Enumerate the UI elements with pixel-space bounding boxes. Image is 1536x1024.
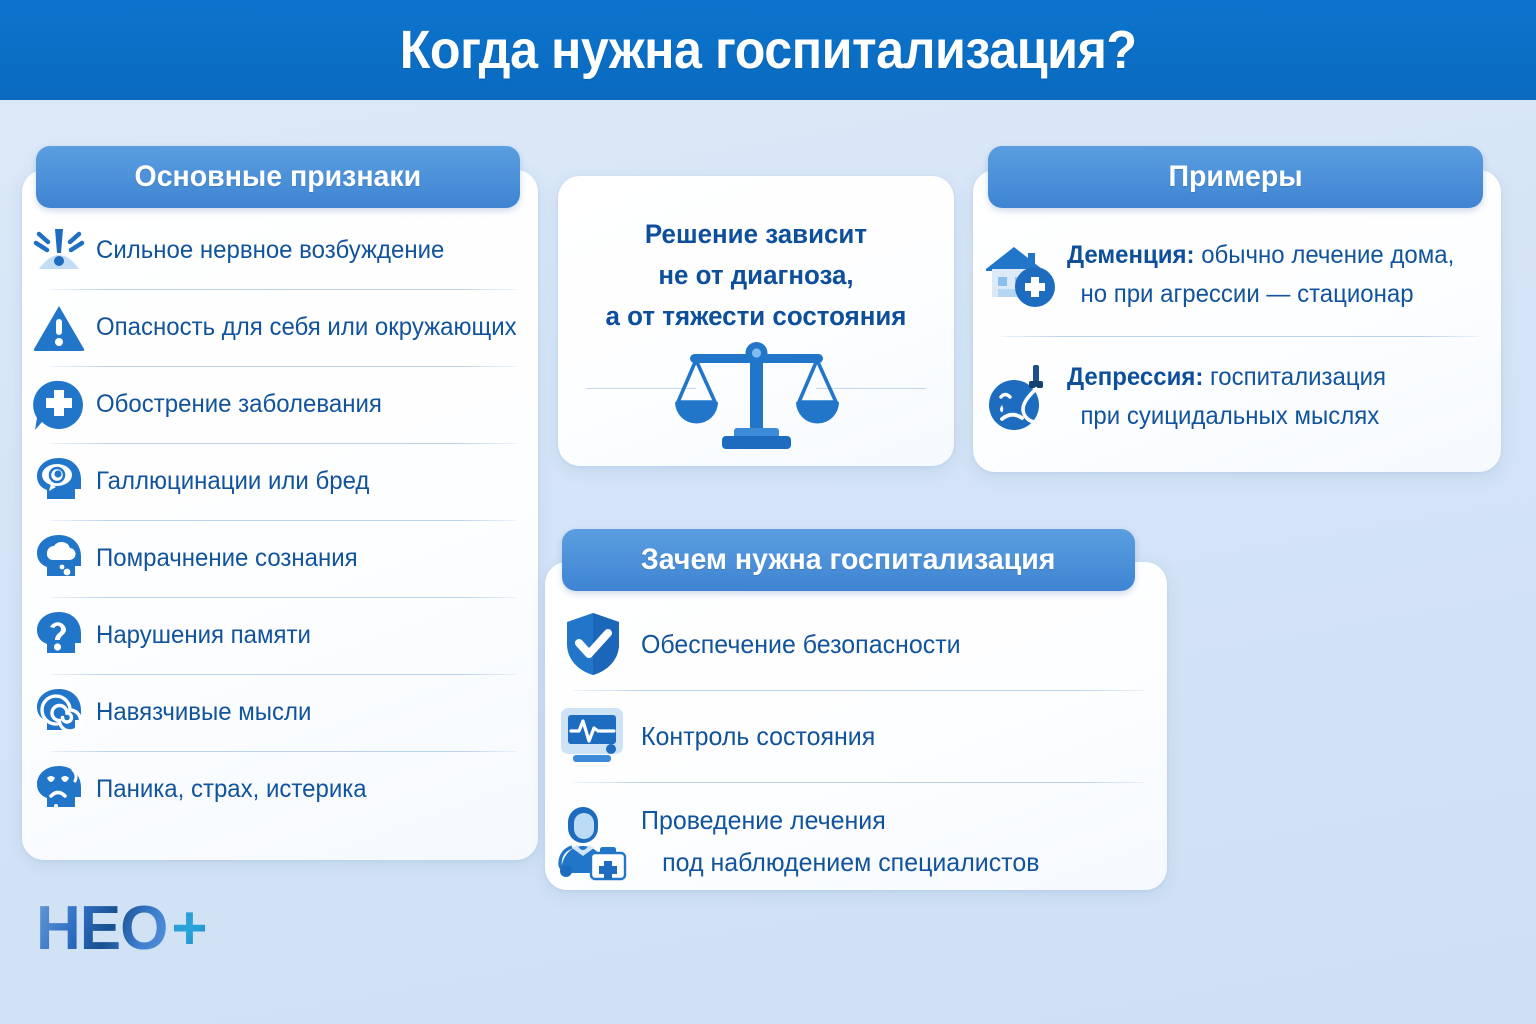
panel-decision-quote: Решение зависит не от диагноза, а от тяж… [558, 176, 954, 466]
list-item[interactable]: Обострение заболевания [22, 366, 538, 443]
logo-wordmark: НЕО [36, 893, 167, 964]
page-header-banner: Когда нужна госпитализация? [0, 0, 1536, 100]
example-line-1: госпитализация [1203, 363, 1386, 391]
list-item-label: Обострение заболевания [96, 389, 382, 420]
list-main-signs: Сильное нервное возбуждение Опасность дл… [22, 212, 538, 828]
list-item[interactable]: Опасность для себя или окружающих [22, 289, 538, 366]
panel-header-main-signs: Основные признаки [36, 146, 520, 208]
head-sad-face-icon [22, 762, 96, 818]
panel-header-examples: Примеры [988, 146, 1483, 208]
example-term: Деменция: [1067, 241, 1195, 269]
why-line-2: под наблюдением специалистов [641, 841, 1039, 883]
example-line-1: обычно лечение дома, [1195, 241, 1455, 269]
heart-monitor-icon [545, 704, 641, 768]
panel-title-main-signs: Основные признаки [135, 160, 422, 194]
list-item-label: Проведение лечения под наблюдением специ… [641, 799, 1039, 883]
quote-line-1: Решение зависит [566, 214, 946, 255]
example-term: Депрессия: [1067, 363, 1203, 391]
list-item-label: Депрессия: госпитализация при суицидальн… [1067, 358, 1386, 437]
sad-face-drop-icon [973, 361, 1067, 433]
example-line-2: но при агрессии — стационар [1067, 275, 1454, 315]
warning-triangle-icon [22, 303, 96, 353]
list-item[interactable]: Обеспечение безопасности [545, 598, 1167, 690]
why-line-1: Проведение лечения [641, 805, 886, 835]
page-title: Когда нужна госпитализация? [400, 19, 1137, 81]
head-question-icon [22, 608, 96, 664]
list-item-label: Сильное нервное возбуждение [96, 235, 444, 266]
example-line-2: при суицидальных мыслях [1067, 397, 1386, 437]
panel-title-examples: Примеры [1168, 160, 1302, 194]
list-item-label: Галлюцинации или бред [96, 466, 369, 497]
list-item[interactable]: Проведение лечения под наблюдением специ… [545, 782, 1167, 900]
list-item[interactable]: Нарушения памяти [22, 597, 538, 674]
list-item[interactable]: Деменция: обычно лечение дома, но при аг… [973, 214, 1501, 336]
exclamation-burst-icon [22, 225, 96, 277]
list-item[interactable]: Паника, страх, истерика [22, 751, 538, 828]
medical-cross-bubble-icon [22, 378, 96, 432]
list-item[interactable]: Контроль состояния [545, 690, 1167, 782]
house-medical-icon [973, 239, 1067, 311]
list-item[interactable]: Галлюцинации или бред [22, 443, 538, 520]
logo-plus-icon: + [171, 893, 207, 964]
list-item-label: Обеспечение безопасности [641, 623, 961, 665]
list-examples: Деменция: обычно лечение дома, но при аг… [973, 214, 1501, 458]
list-item[interactable]: Навязчивые мысли [22, 674, 538, 751]
list-item[interactable]: Помрачнение сознания [22, 520, 538, 597]
quote-line-2: не от диагноза, [566, 255, 946, 296]
list-item[interactable]: Сильное нервное возбуждение [22, 212, 538, 289]
list-item-label: Деменция: обычно лечение дома, но при аг… [1067, 236, 1454, 315]
quote-line-3: а от тяжести состояния [566, 296, 946, 337]
quote-text: Решение зависит не от диагноза, а от тяж… [566, 214, 946, 337]
list-item[interactable]: Депрессия: госпитализация при суицидальн… [973, 336, 1501, 458]
list-item-label: Паника, страх, истерика [96, 774, 367, 805]
panel-header-why: Зачем нужна госпитализация [562, 529, 1135, 591]
list-item-label: Навязчивые мысли [96, 697, 311, 728]
head-spiral-icon [22, 685, 96, 741]
balance-scales-icon [672, 332, 840, 450]
list-item-label: Контроль состояния [641, 715, 875, 757]
list-why: Обеспечение безопасности Контроль состоя… [545, 598, 1167, 900]
list-item-label: Опасность для себя или окружающих [96, 312, 517, 343]
list-item-label: Нарушения памяти [96, 620, 311, 651]
list-item-label: Помрачнение сознания [96, 543, 358, 574]
head-cloud-icon [22, 531, 96, 587]
brand-logo: НЕО + [36, 893, 208, 964]
shield-check-icon [545, 610, 641, 678]
doctor-kit-icon [545, 801, 641, 881]
head-eye-icon [22, 454, 96, 510]
panel-title-why: Зачем нужна госпитализация [641, 543, 1055, 577]
